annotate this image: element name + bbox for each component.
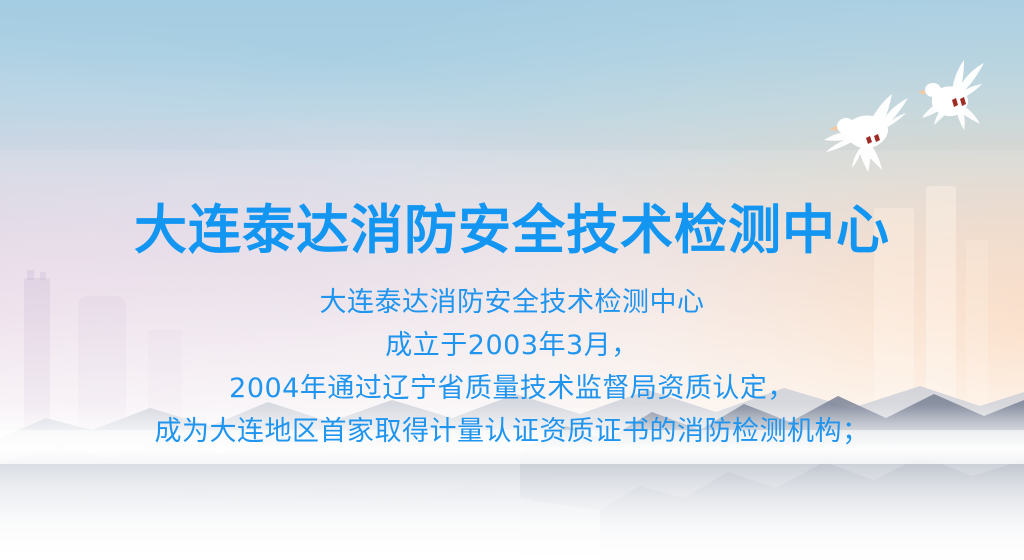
intro-paragraph: 大连泰达消防安全技术检测中心 成立于2003年3月， 2004年通过辽宁省质量技… [0, 281, 1024, 453]
page-title: 大连泰达消防安全技术检测中心 [0, 200, 1024, 262]
intro-line: 大连泰达消防安全技术检测中心 [0, 281, 1024, 324]
intro-line: 成为大连地区首家取得计量认证资质证书的消防检测机构； [0, 410, 1024, 453]
intro-line: 2004年通过辽宁省质量技术监督局资质认定， [0, 367, 1024, 410]
dove-icon-left [824, 88, 916, 172]
hero-banner: 大连泰达消防安全技术检测中心 大连泰达消防安全技术检测中心 成立于2003年3月… [0, 0, 1024, 560]
dove-icon-right [918, 58, 992, 132]
intro-line: 成立于2003年3月， [0, 324, 1024, 367]
